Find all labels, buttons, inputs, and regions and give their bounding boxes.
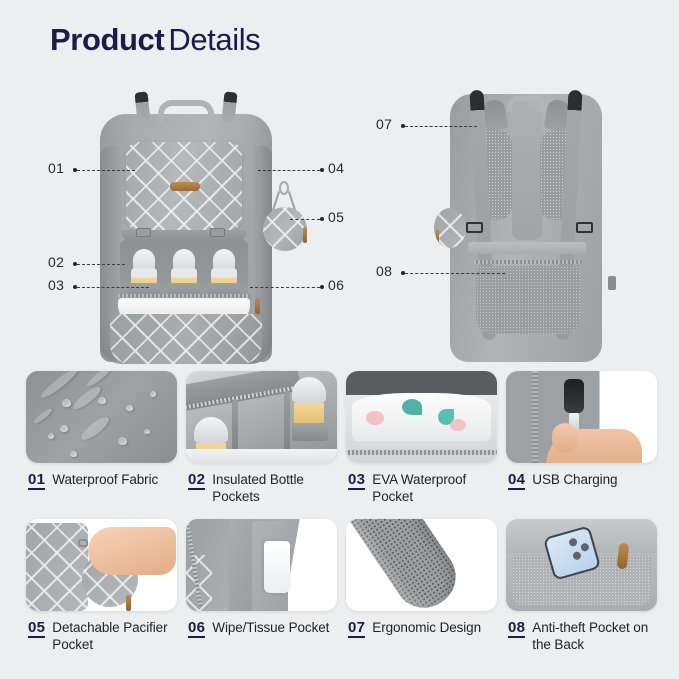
water-droplet: [118, 437, 127, 445]
callout-line-01: [77, 170, 135, 171]
usb-port-closeup: [506, 371, 657, 463]
feature-caption-06: 06 Wipe/Tissue Pocket: [186, 619, 337, 638]
callout-dot-05: [320, 217, 324, 221]
shoulder-strap-left: [134, 91, 150, 122]
baby-bottle: [208, 249, 240, 299]
water-droplet: [62, 399, 71, 407]
bottle-sleeve: [292, 423, 328, 441]
fabric-seam: [532, 371, 538, 463]
printed-motif-teal: [402, 399, 422, 415]
mesh-strap-closeup: [346, 519, 497, 611]
wipe-tissue-pocket-photo[interactable]: [186, 519, 337, 611]
buckle-clip-left: [136, 228, 151, 237]
hero-diagram: 01 02 03 04 05 06 07 08: [0, 74, 679, 369]
feature-label-03: EVA Waterproof Pocket: [372, 471, 497, 505]
feature-card-06[interactable]: 06 Wipe/Tissue Pocket: [186, 519, 337, 653]
feature-label-06: Wipe/Tissue Pocket: [212, 619, 329, 638]
insulated-bottle-pockets: [120, 240, 248, 300]
fabric-surface: [26, 371, 177, 463]
water-droplet: [60, 425, 68, 432]
feature-label-04: USB Charging: [532, 471, 617, 490]
feature-caption-04: 04 USB Charging: [506, 471, 657, 490]
feature-card-03[interactable]: 03 EVA Waterproof Pocket: [346, 371, 497, 505]
wipe-pocket-closeup: [186, 519, 337, 611]
thumb-finger: [552, 423, 578, 453]
back-pocket-closeup: [506, 519, 657, 611]
feature-label-02: Insulated Bottle Pockets: [212, 471, 337, 505]
feature-number-02: 02: [188, 471, 205, 490]
feature-number-03: 03: [348, 471, 365, 490]
diaper-backpack-front-open: [96, 86, 276, 368]
feature-caption-01: 01 Waterproof Fabric: [26, 471, 177, 490]
zipper-pull-leather: [255, 298, 260, 314]
mesh-shoulder-strap: [346, 519, 467, 611]
water-streak: [78, 414, 112, 444]
page-title: ProductDetails: [50, 22, 260, 58]
callout-label-05: 05: [328, 209, 344, 225]
pouch-clip: [78, 539, 88, 547]
feature-caption-02: 02 Insulated Bottle Pockets: [186, 471, 337, 505]
usb-charging-port: [608, 276, 616, 290]
pouch-leather-pull: [436, 230, 439, 244]
usb-port: [564, 379, 584, 413]
feature-caption-03: 03 EVA Waterproof Pocket: [346, 471, 497, 505]
water-streak: [38, 371, 80, 401]
eva-pocket-closeup: [346, 371, 497, 463]
pouch-leather-pull: [303, 227, 307, 243]
callout-line-08: [405, 273, 505, 274]
callout-label-04: 04: [328, 160, 344, 176]
feature-card-01[interactable]: 01 Waterproof Fabric: [26, 371, 177, 505]
callout-line-04: [258, 170, 320, 171]
callout-line-02: [77, 264, 125, 265]
product-details-page: ProductDetails: [0, 0, 679, 679]
printed-motif-pink: [366, 411, 384, 425]
waterproof-fabric-droplets-photo[interactable]: [26, 371, 177, 463]
water-droplet: [144, 429, 150, 434]
water-droplet: [70, 451, 77, 457]
hand: [88, 527, 176, 575]
baby-bottle: [168, 249, 200, 299]
diaper-backpack-back: [428, 80, 628, 368]
feature-card-05[interactable]: 05 Detachable Pacifier Pocket: [26, 519, 177, 653]
water-droplet: [98, 397, 106, 404]
feature-number-05: 05: [28, 619, 45, 638]
callout-line-05: [290, 219, 320, 220]
strap-buckle-left: [466, 222, 483, 233]
leather-logo-patch: [170, 182, 200, 191]
luggage-pass-through-band: [468, 242, 586, 254]
attached-pacifier-pouch: [434, 208, 466, 248]
pouch-body: [263, 207, 307, 251]
usb-charging-port-photo[interactable]: [506, 371, 657, 463]
pacifier-pouch-closeup: [26, 519, 177, 611]
callout-label-07: 07: [376, 116, 392, 132]
quilt-pattern: [263, 207, 307, 251]
anti-theft-back-pocket-photo[interactable]: [506, 519, 657, 611]
bag-panel-middle: [230, 519, 252, 611]
tissue-sheet: [264, 541, 290, 593]
feature-row-2: 05 Detachable Pacifier Pocket: [26, 519, 654, 653]
callout-label-01: 01: [48, 160, 64, 176]
baby-bottle: [292, 377, 328, 441]
bottle-cap: [194, 417, 228, 443]
feature-number-01: 01: [28, 471, 45, 490]
detachable-pacifier-pouch-photo[interactable]: [26, 519, 177, 611]
feature-number-08: 08: [508, 619, 525, 638]
callout-line-07: [405, 126, 477, 127]
pouch-leather-pull: [126, 595, 131, 611]
zipper: [346, 450, 497, 455]
water-droplet: [48, 433, 54, 439]
printed-motif-pink: [450, 419, 466, 431]
water-droplet: [126, 405, 133, 411]
cooler-compartment: [186, 371, 337, 463]
camera-lens: [572, 551, 582, 561]
bag-front-bottom-quilt: [110, 314, 262, 364]
baby-bottle: [128, 249, 160, 299]
camera-lens: [580, 542, 590, 552]
eva-waterproof-pocket-photo[interactable]: [346, 371, 497, 463]
insulated-bottle-pockets-photo[interactable]: [186, 371, 337, 463]
feature-card-02[interactable]: 02 Insulated Bottle Pockets: [186, 371, 337, 505]
feature-label-05: Detachable Pacifier Pocket: [52, 619, 177, 653]
callout-label-08: 08: [376, 263, 392, 279]
page-title-bold: Product: [50, 22, 164, 57]
feature-caption-07: 07 Ergonomic Design: [346, 619, 497, 638]
bag-side-panel: [26, 523, 88, 611]
bottle-cap: [292, 377, 326, 403]
water-streak: [32, 407, 53, 425]
callout-label-06: 06: [328, 277, 344, 293]
back-center-panel: [512, 110, 542, 240]
quilted-front-flap: [126, 142, 242, 230]
feature-card-07[interactable]: 07 Ergonomic Design: [346, 519, 497, 653]
callout-line-03: [77, 287, 149, 288]
strap-buckle-right: [576, 222, 593, 233]
feature-label-01: Waterproof Fabric: [52, 471, 158, 490]
feature-caption-05: 05 Detachable Pacifier Pocket: [26, 619, 177, 653]
ergonomic-mesh-strap-photo[interactable]: [346, 519, 497, 611]
page-title-regular: Details: [168, 22, 260, 57]
callout-label-02: 02: [48, 254, 64, 270]
camera-lens: [568, 537, 578, 547]
feature-card-04[interactable]: 04 USB Charging: [506, 371, 657, 505]
top-carry-handle: [158, 100, 214, 122]
buckle-clip-right: [210, 228, 225, 237]
callout-dot-04: [320, 168, 324, 172]
feature-card-08[interactable]: 08 Anti-theft Pocket on the Back: [506, 519, 657, 653]
feature-number-06: 06: [188, 619, 205, 638]
feature-number-07: 07: [348, 619, 365, 638]
feature-grid: 01 Waterproof Fabric: [26, 371, 654, 653]
bag-base-edge: [186, 449, 337, 463]
callout-dot-06: [320, 285, 324, 289]
quilt-pattern: [26, 523, 88, 611]
quilt-pattern: [110, 314, 262, 364]
feature-label-07: Ergonomic Design: [372, 619, 481, 638]
feature-row-1: 01 Waterproof Fabric: [26, 371, 654, 505]
feature-label-08: Anti-theft Pocket on the Back: [532, 619, 657, 653]
feature-number-04: 04: [508, 471, 525, 490]
callout-line-06: [250, 287, 320, 288]
anti-theft-back-pocket: [476, 266, 580, 334]
detachable-pacifier-pouch: [255, 181, 311, 253]
bottle-milk: [294, 403, 324, 423]
anti-theft-pocket-zipper: [474, 260, 582, 264]
feature-caption-08: 08 Anti-theft Pocket on the Back: [506, 619, 657, 653]
water-droplet: [150, 391, 156, 397]
callout-label-03: 03: [48, 277, 64, 293]
